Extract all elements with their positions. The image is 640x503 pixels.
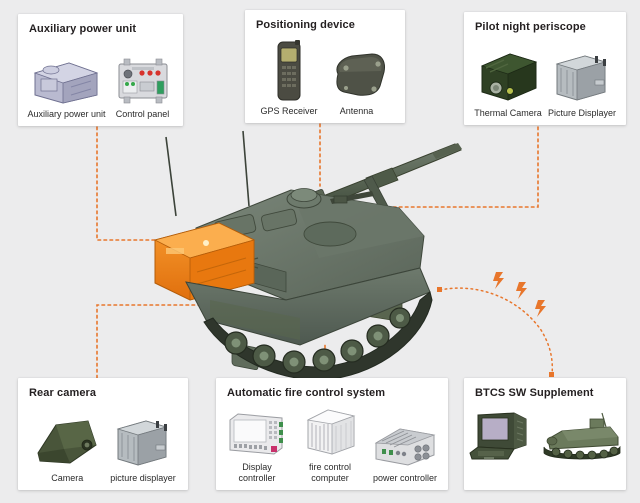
antenna-whip xyxy=(166,131,249,216)
wireless-endpoint-end xyxy=(549,372,554,377)
item-thermal-camera: Thermal Camera xyxy=(474,48,542,119)
item-label: Camera xyxy=(51,473,83,484)
item-apu-module: Auxiliary power unit xyxy=(27,57,105,120)
item-label: GPS Receiver xyxy=(260,106,317,117)
auxiliary-power-unit-highlight xyxy=(155,223,254,300)
item-label: Auxiliary power unit xyxy=(27,109,105,120)
turret xyxy=(192,189,424,322)
commander-cupola xyxy=(287,190,321,208)
gps-handheld-icon xyxy=(266,40,312,102)
item-display-controller: Display controller xyxy=(224,408,290,484)
card-items xyxy=(464,400,626,490)
item-power-controller: power controller xyxy=(370,421,440,484)
gun-barrel xyxy=(298,143,462,213)
callout-card-auxiliary-power-unit[interactable]: Auxiliary power unit Auxiliary power uni… xyxy=(18,14,183,126)
item-label: Thermal Camera xyxy=(474,108,542,119)
diagram-canvas: Auxiliary power unit Auxiliary power uni… xyxy=(0,0,640,503)
deck-hatch xyxy=(261,208,298,231)
lightning-bolt-icon xyxy=(516,282,527,299)
lightning-bolt-icon xyxy=(493,272,504,289)
item-gps-receiver: GPS Receiver xyxy=(260,40,317,117)
wireless-endpoint-start xyxy=(437,287,442,292)
item-rugged-laptop xyxy=(464,409,534,469)
rugged-laptop-icon xyxy=(464,409,534,465)
callout-card-positioning-device[interactable]: Positioning device xyxy=(245,10,405,123)
machine-gun xyxy=(330,191,374,204)
card-title: Positioning device xyxy=(245,10,405,32)
callout-card-pilot-night-periscope[interactable]: Pilot night periscope Thermal Camera xyxy=(464,12,626,125)
item-label: Antenna xyxy=(340,106,374,117)
card-title: Rear camera xyxy=(18,378,188,400)
antenna-plate-icon xyxy=(324,48,390,102)
display-controller-icon xyxy=(224,408,290,458)
deck-hatch xyxy=(213,214,256,241)
item-label: Display controller xyxy=(224,462,290,484)
callout-card-rear-camera[interactable]: Rear camera Camera xyxy=(18,378,188,490)
picture-displayer-icon xyxy=(551,48,613,104)
wireless-link-path xyxy=(440,288,552,376)
item-picture-displayer: picture displayer xyxy=(110,413,176,484)
apu-module-icon xyxy=(29,57,103,105)
item-label: Control panel xyxy=(116,109,170,120)
fire-control-computer-icon xyxy=(300,406,360,458)
leader-rear-camera xyxy=(97,305,210,378)
item-picture-displayer: Picture Displayer xyxy=(548,48,616,119)
card-title: BTCS SW Supplement xyxy=(464,378,626,400)
travel-lock xyxy=(364,176,392,216)
item-label: fire control computer xyxy=(296,462,364,484)
leader-apu xyxy=(97,127,200,240)
card-items: Camera picture displayer xyxy=(18,400,188,490)
item-control-panel: Control panel xyxy=(112,57,174,120)
item-antenna: Antenna xyxy=(324,48,390,117)
item-armored-vehicle xyxy=(540,409,626,469)
turret-panel xyxy=(304,222,356,246)
wireless-bolt-group xyxy=(493,272,546,317)
thermal-camera-icon xyxy=(474,48,542,104)
callout-card-btcs-sw-supplement[interactable]: BTCS SW Supplement xyxy=(464,378,626,490)
item-label: power controller xyxy=(373,473,437,484)
item-label: picture displayer xyxy=(110,473,176,484)
callout-card-automatic-fire-control-system[interactable]: Automatic fire control system xyxy=(216,378,448,490)
item-label: Picture Displayer xyxy=(548,108,616,119)
side-stowage xyxy=(352,294,402,322)
armored-vehicle-icon xyxy=(540,409,626,465)
picture-displayer-icon xyxy=(112,413,174,469)
card-items: GPS Receiver Antenna xyxy=(245,32,405,123)
card-items: Thermal Camera Picture Displayer xyxy=(464,34,626,125)
leader-periscope xyxy=(355,127,538,207)
card-title: Automatic fire control system xyxy=(216,378,448,400)
control-panel-icon xyxy=(112,57,174,105)
item-fire-control-computer: fire control computer xyxy=(296,406,364,484)
rear-camera-housing-icon xyxy=(30,417,104,469)
card-items: Display controller xyxy=(216,400,448,490)
item-camera: Camera xyxy=(30,417,104,484)
hull xyxy=(186,268,430,370)
card-title: Auxiliary power unit xyxy=(18,14,183,36)
card-items: Auxiliary power unit xyxy=(18,36,183,126)
lightning-bolt-icon xyxy=(535,300,546,317)
card-title: Pilot night periscope xyxy=(464,12,626,34)
track-assembly xyxy=(204,292,432,380)
power-controller-icon xyxy=(370,421,440,469)
road-wheel xyxy=(225,308,410,373)
